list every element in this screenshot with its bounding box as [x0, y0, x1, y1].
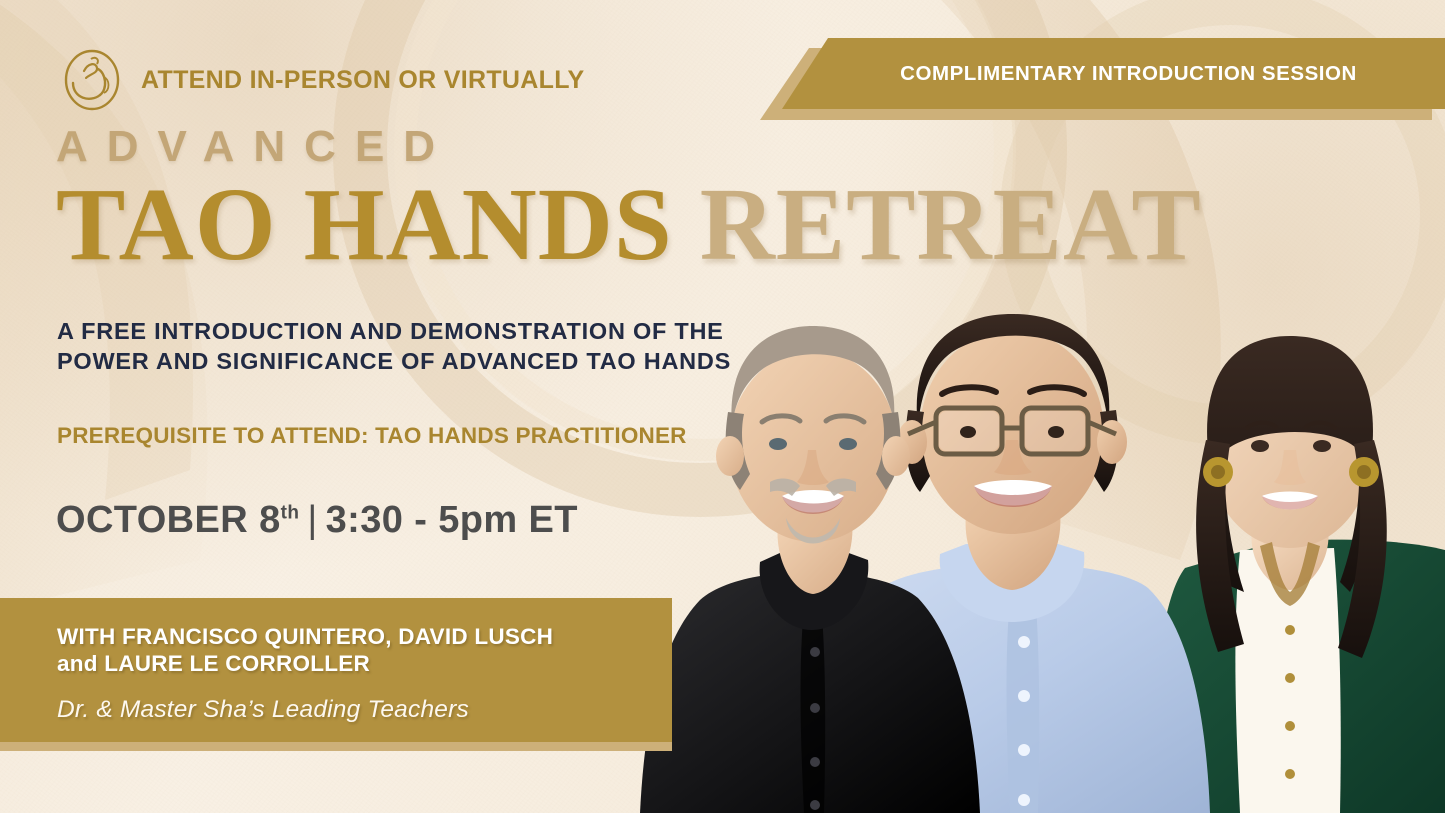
complimentary-session-ribbon: COMPLIMENTARY INTRODUCTION SESSION	[760, 38, 1445, 120]
presenter-photo-group	[640, 300, 1445, 813]
presenters-band: WITH FRANCISCO QUINTERO, DAVID LUSCH and…	[0, 598, 672, 742]
headline-block: ADVANCED TAO HANDS RETREAT	[56, 125, 1202, 278]
tao-circle-emblem-icon	[62, 47, 122, 113]
event-datetime: OCTOBER 8th|3:30 - 5pm ET	[56, 499, 578, 542]
headline-title-row: TAO HANDS RETREAT	[56, 172, 1202, 278]
datetime-separator: |	[299, 499, 325, 541]
date-ordinal-suffix: th	[281, 502, 300, 523]
presenter-conjunction: and	[57, 651, 104, 676]
event-date: OCTOBER 8	[56, 499, 281, 541]
prerequisite-note: PREREQUISITE TO ATTEND: TAO HANDS PRACTI…	[57, 423, 687, 449]
presenter-names-line-2: and LAURE LE CORROLLER	[57, 650, 657, 677]
ribbon-main-layer: COMPLIMENTARY INTRODUCTION SESSION	[782, 38, 1445, 109]
presenter-names: WITH FRANCISCO QUINTERO, DAVID LUSCH and…	[57, 623, 657, 678]
event-time: 3:30 - 5pm ET	[326, 499, 578, 541]
presenters-band-content: WITH FRANCISCO QUINTERO, DAVID LUSCH and…	[57, 623, 657, 724]
headline-title-primary: TAO HANDS	[56, 167, 673, 282]
presenter-names-rest: LAURE LE CORROLLER	[104, 651, 370, 676]
attend-mode-label: ATTEND IN-PERSON OR VIRTUALLY	[141, 66, 584, 95]
headline-title-secondary: RETREAT	[700, 167, 1202, 282]
presenter-names-line-1: WITH FRANCISCO QUINTERO, DAVID LUSCH	[57, 623, 657, 650]
presenter-tagline: Dr. & Master Sha’s Leading Teachers	[57, 696, 657, 724]
promo-banner: ATTEND IN-PERSON OR VIRTUALLY COMPLIMENT…	[0, 0, 1445, 813]
eyebrow-row: ATTEND IN-PERSON OR VIRTUALLY	[62, 47, 584, 113]
band-shadow-strip	[0, 742, 672, 751]
ribbon-label: COMPLIMENTARY INTRODUCTION SESSION	[870, 62, 1357, 86]
headline-kicker: ADVANCED	[56, 125, 1202, 169]
